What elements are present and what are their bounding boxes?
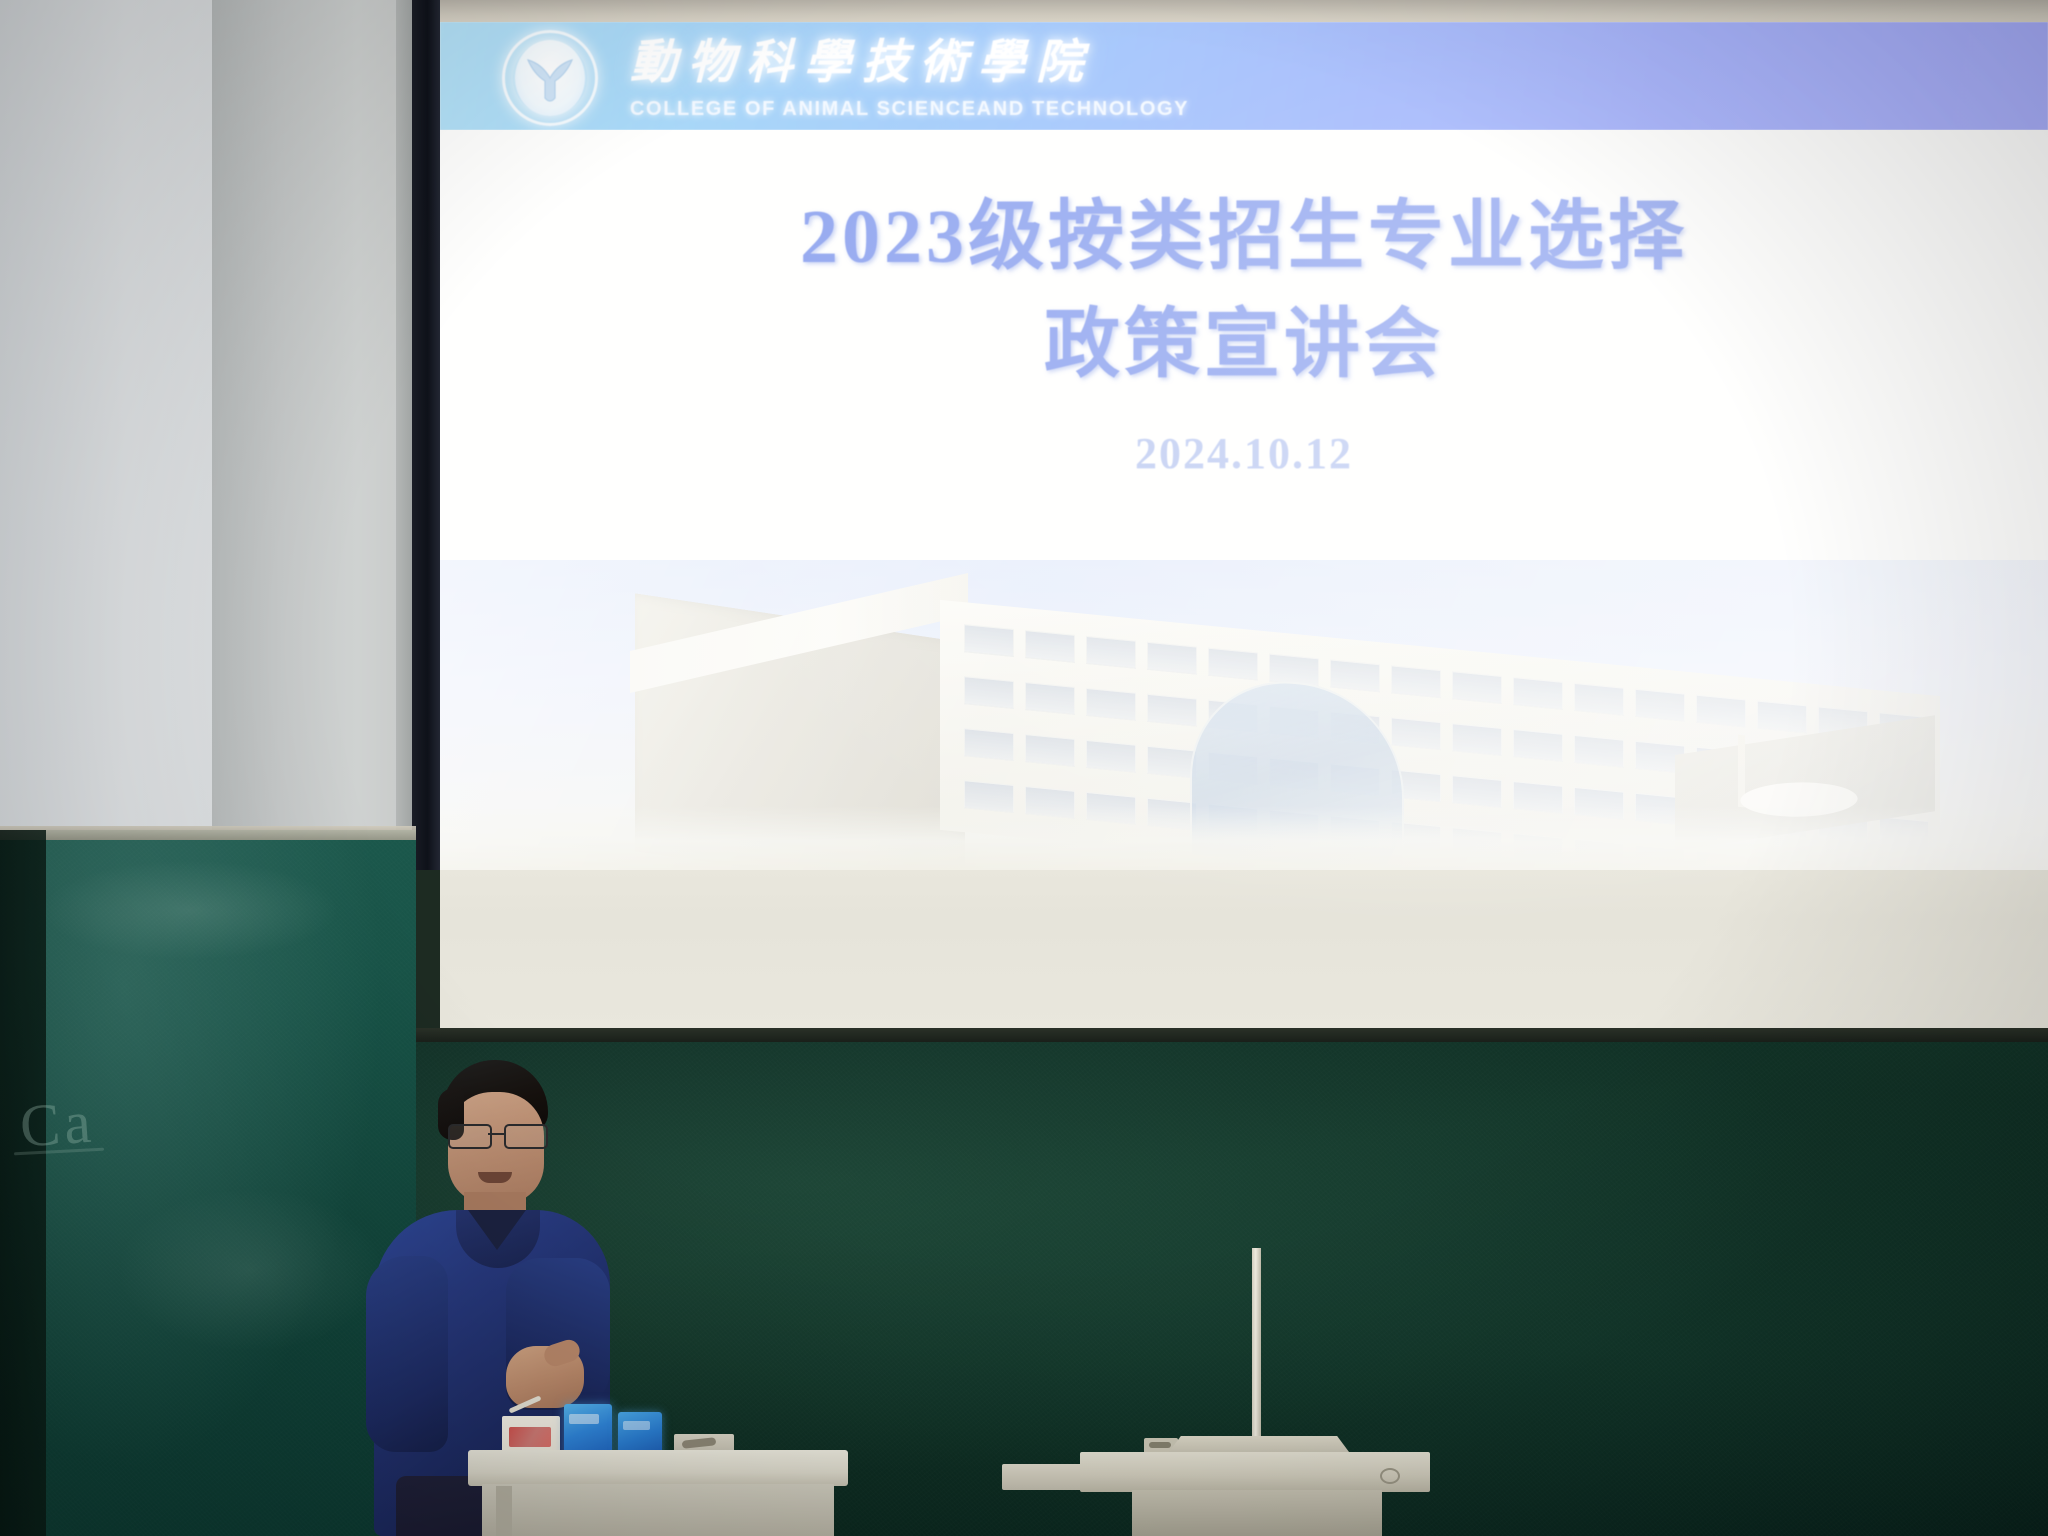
wall-panel (212, 0, 406, 845)
chalk-smudge (120, 1190, 380, 1350)
desk-front-panel (482, 1484, 834, 1536)
building-photo (440, 560, 2048, 870)
slide-title-line-2: 政策宣讲会 (440, 286, 2048, 404)
chalk-rail (0, 826, 416, 840)
microphone-pole (1252, 1248, 1261, 1460)
college-emblem-icon (502, 30, 598, 126)
lectern-base (1132, 1490, 1382, 1536)
lectern-ring (1380, 1468, 1400, 1484)
slide-footer-band (440, 870, 2048, 1032)
animal-head-icon (522, 54, 578, 104)
slide-title-area: 2023级按类招生专业选择 政策宣讲会 2024.10.12 (440, 130, 2048, 560)
college-name-en: COLLEGE OF ANIMAL SCIENCEAND TECHNOLOGY (630, 98, 1189, 121)
college-name-block: 動物科學技術學院 COLLEGE OF ANIMAL SCIENCEAND TE… (630, 32, 1189, 121)
projected-slide: 動物科學技術學院 COLLEGE OF ANIMAL SCIENCEAND TE… (440, 22, 2048, 1032)
college-name-cn: 動物科學技術學院 (630, 32, 1189, 94)
photo-ground-haze (440, 806, 2048, 870)
slide-header-banner: 動物科學技術學院 COLLEGE OF ANIMAL SCIENCEAND TE… (440, 22, 2048, 130)
slide-date: 2024.10.12 (440, 428, 2048, 479)
lectern (1080, 1452, 1430, 1536)
front-desk (468, 1450, 848, 1536)
presenter-glasses (446, 1124, 550, 1146)
presenter-left-arm (366, 1256, 448, 1452)
lectern-top (1080, 1452, 1430, 1492)
desk-leg (496, 1486, 512, 1536)
slide-title-line-1: 2023级按类招生专业选择 (440, 178, 2048, 296)
projection-screen-frame (412, 0, 440, 870)
left-wall (0, 0, 212, 840)
chalk-smudge (40, 860, 340, 960)
lectern-side-shelf (1002, 1464, 1092, 1490)
lecture-hall-scene: 動物科學技術學院 COLLEGE OF ANIMAL SCIENCEAND TE… (0, 0, 2048, 1536)
desk-top (468, 1450, 848, 1486)
